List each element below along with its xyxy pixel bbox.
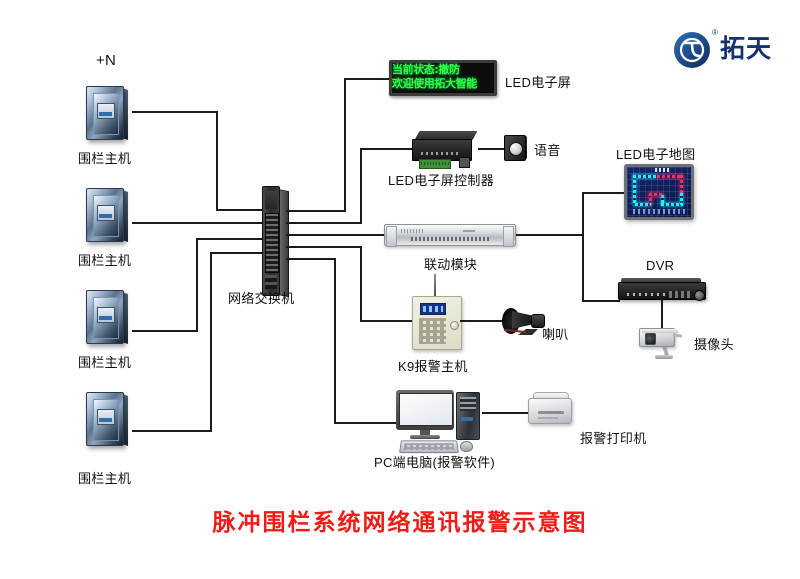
camera-body xyxy=(639,328,675,347)
led-banner-screen-icon[interactable]: 当前状态:撤防 欢迎使用拓大智能 xyxy=(389,60,497,96)
wire-switch-pc-v xyxy=(334,258,336,424)
fence-host-2[interactable] xyxy=(84,186,130,244)
wire-fence3-v xyxy=(196,238,198,332)
led-map-top-title xyxy=(655,168,669,172)
wire-fence4-h xyxy=(132,430,212,432)
fence-host-1-label: 围栏主机 xyxy=(78,148,131,167)
printer-label: 报警打印机 xyxy=(580,428,647,447)
dvr-label: DVR xyxy=(646,258,674,273)
fence-host-display xyxy=(97,103,115,119)
led-controller-indicators xyxy=(421,152,461,155)
dvr-indicator-leds xyxy=(627,293,665,296)
k9-enclosure xyxy=(412,296,462,350)
wire-switch-k9-v xyxy=(360,246,362,322)
voice-label: 语音 xyxy=(534,140,561,159)
k9-keypad xyxy=(419,318,446,344)
linkage-ear-right xyxy=(503,226,514,247)
plus-n-label: +N xyxy=(96,52,116,69)
camera-label: 摄像头 xyxy=(694,334,734,353)
diagram-title: 脉冲围栏系统网络通讯报警示意图 xyxy=(0,503,800,537)
wire-pc-printer xyxy=(482,412,530,414)
fence-host-2-label: 围栏主机 xyxy=(78,250,131,269)
fence-host-body xyxy=(86,188,124,242)
wire-switch-ledscreen-h xyxy=(286,210,346,212)
led-controller-label: LED电子屏控制器 xyxy=(388,170,494,189)
led-controller-front xyxy=(412,139,472,161)
linkage-module-label: 联动模块 xyxy=(424,254,477,273)
wire-switch-ledctrl-v xyxy=(360,148,362,224)
fence-host-display xyxy=(97,307,115,323)
switch-top-vents xyxy=(265,191,277,209)
led-screen-label: LED电子屏 xyxy=(505,72,571,91)
dvr-jog-dial xyxy=(694,290,705,301)
dvr-recorder-icon[interactable] xyxy=(618,278,704,300)
linkage-mark xyxy=(463,230,475,232)
camera-lens xyxy=(645,333,656,345)
wire-dvr-h xyxy=(582,300,620,302)
led-electronic-map-icon[interactable] xyxy=(624,164,694,220)
printer-body xyxy=(528,398,572,424)
wire-fence2-h xyxy=(132,222,266,224)
wire-switch-ledscreen-v xyxy=(344,78,346,212)
wire-ledctrl-h xyxy=(360,148,412,150)
wire-fence1-h xyxy=(132,111,218,113)
horn-label: 喇叭 xyxy=(542,324,569,343)
wire-switch-k9-h xyxy=(286,246,362,248)
fence-host-display xyxy=(97,205,115,221)
brand-wordmark: 拓天 xyxy=(720,34,772,64)
wire-fence1-v xyxy=(216,111,218,211)
wire-fence4-h2 xyxy=(210,252,266,254)
wire-switch-linkage-h xyxy=(286,234,384,236)
voice-speaker-icon[interactable] xyxy=(504,135,528,161)
led-controller-terminal-block xyxy=(419,159,451,169)
led-controller-box-icon[interactable] xyxy=(412,131,478,161)
voice-speaker-cone xyxy=(509,142,523,156)
pc-tower-led xyxy=(461,417,473,421)
wire-ledctrl-voice xyxy=(478,148,506,150)
bullet-camera-icon[interactable] xyxy=(635,326,689,362)
network-switch-icon[interactable] xyxy=(262,186,288,294)
wire-ledscreen-h xyxy=(344,78,390,80)
pc-tower-bays xyxy=(460,397,476,411)
led-map-label: LED电子地图 xyxy=(616,144,695,163)
wire-fence3-h xyxy=(132,330,198,332)
led-map-segment xyxy=(633,175,657,178)
linkage-port-strip xyxy=(411,237,489,241)
wire-linkage-right xyxy=(516,234,584,236)
k9-alarm-label: K9报警主机 xyxy=(398,356,468,375)
tuotian-circle-t-logo-icon xyxy=(672,30,712,70)
led-screen-line-2: 欢迎使用拓大智能 xyxy=(392,77,494,90)
k9-antenna xyxy=(434,274,436,298)
fence-host-1[interactable] xyxy=(84,84,130,142)
led-map-segment xyxy=(661,195,664,205)
printer-tray xyxy=(538,417,558,419)
fence-host-3-label: 围栏主机 xyxy=(78,352,131,371)
pc-mouse xyxy=(460,441,473,452)
fence-host-3[interactable] xyxy=(84,288,130,346)
wire-fence4-v xyxy=(210,252,212,432)
led-controller-rj45-port xyxy=(459,157,470,168)
fence-host-body xyxy=(86,290,124,344)
camera-mount xyxy=(655,355,673,359)
printer-icon[interactable] xyxy=(528,392,572,424)
pc-label: PC端电脑(报警软件) xyxy=(374,452,495,471)
k9-lcd-display xyxy=(420,303,446,315)
wire-right-riser xyxy=(582,192,584,302)
printer-paper-slot xyxy=(538,411,564,414)
led-screen-line-1: 当前状态:撤防 xyxy=(392,63,494,76)
wire-ledmap-h xyxy=(582,192,626,194)
pc-tower xyxy=(456,392,480,440)
fence-host-4-label: 围栏主机 xyxy=(78,468,131,487)
registered-mark: ® xyxy=(712,28,718,37)
switch-face xyxy=(262,186,280,296)
voice-speaker-cabinet xyxy=(504,135,526,161)
dvr-buttons xyxy=(669,291,693,298)
led-map-caption-strip xyxy=(633,209,685,214)
desktop-computer-icon[interactable] xyxy=(396,390,488,452)
pc-monitor-base xyxy=(410,435,440,439)
wire-pc-h xyxy=(334,422,396,424)
linkage-branding xyxy=(401,229,423,233)
rack-linkage-module-icon[interactable] xyxy=(384,224,516,246)
fence-host-body xyxy=(86,86,124,140)
pc-screen xyxy=(399,393,453,426)
led-map-segment xyxy=(680,175,683,195)
network-switch-label: 网络交换机 xyxy=(228,288,295,307)
led-map-segment xyxy=(635,203,651,206)
led-map-segment xyxy=(661,203,683,206)
linkage-ear-left xyxy=(386,226,397,247)
linkage-face xyxy=(384,224,516,246)
k9-alarm-panel-icon[interactable] xyxy=(412,296,462,350)
wire-switch-pc-h xyxy=(286,258,336,260)
pc-monitor xyxy=(396,390,454,430)
k9-indicator-knob xyxy=(450,321,459,330)
switch-uplink-ports xyxy=(265,275,277,289)
switch-port-bank xyxy=(265,213,279,273)
fence-host-body xyxy=(86,392,124,446)
wire-k9-horn xyxy=(460,320,506,322)
led-map-segment xyxy=(633,175,636,205)
fence-host-4[interactable] xyxy=(84,390,130,448)
wire-switch-ledctrl-h xyxy=(286,222,362,224)
fence-host-display xyxy=(97,409,115,425)
diagram-canvas: ® 拓天 +N 围栏主机 围栏主机 围栏主机 围栏主机 xyxy=(0,0,800,579)
wire-fence3-h2 xyxy=(196,238,266,240)
led-map-screen xyxy=(627,167,691,217)
wire-k9-h xyxy=(360,320,412,322)
wire-fence1-h2 xyxy=(216,209,266,211)
brand-logo: ® 拓天 xyxy=(672,28,790,70)
